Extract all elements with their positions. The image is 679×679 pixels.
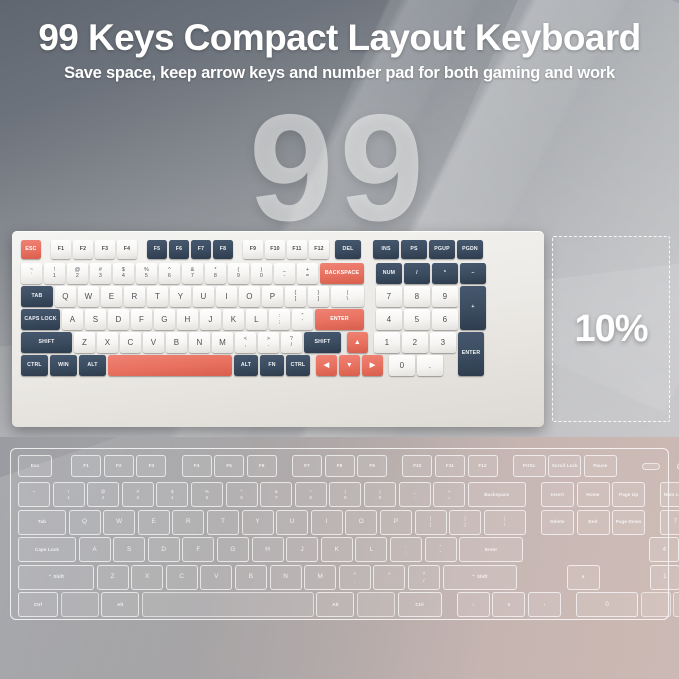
key-legend: D [116,316,122,324]
ghost-key-legend: U [290,518,295,526]
ghost-key-legend: PrtSc [523,463,536,469]
key-j[interactable]: J [200,309,221,330]
ghost-key-legend-dual: >. [388,571,391,583]
ghost-key-g: G [217,537,249,562]
ghost-key-legend: Page Up [619,492,638,498]
key-legend: F12 [314,247,324,252]
key-legend: F2 [80,247,86,252]
key-s[interactable]: S [85,309,106,330]
key-legend: PS [410,247,417,252]
key-[interactable]: >. [258,332,279,353]
key-c[interactable]: C [120,332,141,353]
ghost-key-o: O [345,510,377,535]
key-ins[interactable]: INS [373,240,399,259]
key-k[interactable]: K [223,309,244,330]
ghost-key-legend-dual: )0 [379,489,382,501]
key-legend-dual: >. [267,337,270,349]
ghost-key-legend-dual: !1 [67,489,70,501]
key-legend: ALT [241,363,251,368]
key-5[interactable]: %5 [136,263,157,284]
compact-keyboard: ESCF1F2F3F4F5F6F7F8F9F10F11F12DELINSPSPG… [12,231,544,427]
key-legend-dual: += [306,268,309,280]
ghost-key-u: U [276,510,308,535]
ghost-key-legend: H [265,546,270,554]
ghost-key-legend: R [186,518,191,526]
key-legend: F1 [58,247,64,252]
key-legend: / [416,271,418,276]
ghost-key-gap [169,455,179,477]
ghost-key-home: Home [577,482,610,507]
ghost-key-legend: Insert [551,492,564,498]
ghost-row-g-home-row: Caps LockASDFGHJKL:;"'Enter456 [18,537,661,562]
key-legend: SHIFT [315,340,331,345]
ghost-key-legend-dual: <, [353,571,356,583]
ghost-key-blank: >. [373,565,405,590]
key-p[interactable]: P [262,286,283,307]
key-n[interactable]: N [189,332,210,353]
key-legend: . [429,362,431,370]
key-w[interactable]: W [78,286,99,307]
ghost-key-legend-dual: |\ [504,516,505,528]
ghost-key-gap [55,455,69,477]
key-del[interactable]: DEL [335,240,361,259]
key-legend-dual: {[ [294,291,296,303]
ghost-key-s: S [113,537,145,562]
ghost-key-legend: Esc [31,463,39,469]
key-legend-dual: $4 [122,268,125,280]
ghost-key-legend-dual: $4 [171,489,174,501]
key-o[interactable]: O [239,286,260,307]
key-legend: NUM [383,271,395,276]
key-f2[interactable]: F2 [73,240,93,259]
key-legend: F10 [270,247,280,252]
ghost-key-legend: End [589,519,598,525]
ghost-key-4: 4 [649,537,679,562]
ghost-key-enter: Enter [459,537,523,562]
ghost-key-4: $4 [156,482,188,507]
ghost-key-f: F [182,537,214,562]
ghost-key-m: M [304,565,336,590]
key-r[interactable]: R [124,286,145,307]
ghost-key-f3: F3 [136,455,166,477]
ghost-key-num-lock: Num Lock [660,482,679,507]
key-enter[interactable]: ENTER [458,332,484,376]
key-[interactable]: ◀ [316,355,337,376]
key-f3[interactable]: F3 [95,240,115,259]
ghost-key-legend: Enter [485,547,497,553]
ghost-key-legend: F10 [413,463,421,469]
ghost-key-blank [673,592,679,617]
key-fn[interactable]: FN [260,355,284,376]
ghost-key-caps-lock: Caps Lock [18,537,76,562]
key-legend: 3 [441,339,446,347]
key-2[interactable]: 2 [402,332,428,353]
key-[interactable]: {[ [285,286,306,307]
key-legend: ENTER [330,317,349,322]
ghost-key-h: H [252,537,284,562]
key-legend-dual: :; [279,314,281,326]
ghost-key-legend: F12 [478,463,486,469]
ghost-key-gap [663,455,675,477]
ghost-key-gap [648,510,658,535]
key-tab[interactable]: TAB [21,286,53,307]
key-f10[interactable]: F10 [265,240,285,259]
key-3[interactable]: 3 [430,332,456,353]
ghost-key-blank: ~` [18,482,50,507]
ghost-key-legend-dual: {[ [430,516,432,528]
ghost-key-f6: F6 [247,455,277,477]
ghost-key-legend: F5 [226,463,232,469]
key-legend: V [151,339,157,347]
ghost-key-legend: C [179,573,184,581]
key-7[interactable]: &7 [182,263,203,284]
ghost-key-c: C [166,565,198,590]
key-legend: INS [381,247,390,252]
ghost-key-blank: :; [390,537,422,562]
key-m[interactable]: M [212,332,233,353]
ghost-key-8: *8 [295,482,327,507]
key-num[interactable]: NUM [376,263,402,284]
ghost-key-blank [142,592,314,617]
ghost-key-legend-dual: "' [440,544,442,556]
key-legend-dual: _- [283,268,286,280]
ghost-key-x: X [131,565,163,590]
key-legend: O [246,293,252,301]
key-l[interactable]: L [246,309,267,330]
key-[interactable]: :; [269,309,290,330]
ghost-key-z: Z [97,565,129,590]
ghost-key-legend: Q [82,518,87,526]
ghost-key-legend-dual: ~` [33,489,36,501]
ghost-key-legend-dual: %5 [205,489,209,501]
key-legend-dual: @2 [75,268,81,280]
key-legend-dual: ?/ [290,337,293,349]
key-[interactable]: – [460,263,486,284]
ghost-key-shift: ⌃ Shift [18,565,94,590]
ghost-key-t: T [207,510,239,535]
key-legend: 6 [443,316,448,324]
ghost-key-legend: V [214,573,218,581]
key-legend: ▼ [346,362,353,369]
key-[interactable]: |\ [331,286,364,307]
ghost-key-7: &7 [260,482,292,507]
ghost-key-backspace: Backspace [468,482,526,507]
ghost-key-legend: B [249,573,253,581]
key-legend: M [219,339,226,347]
key-legend-dual: <, [244,337,247,349]
key-pgup[interactable]: PGUP [429,240,455,259]
ghost-key-f7: F7 [292,455,322,477]
ghost-key-legend: 4 [662,546,666,554]
key-6[interactable]: ^6 [159,263,180,284]
key-[interactable]: / [404,263,430,284]
ghost-key-legend: ⌃ Shift [472,574,488,580]
key-7[interactable]: 7 [376,286,402,307]
ghost-key-delete: Delete [541,510,574,535]
ghost-key-3: #3 [122,482,154,507]
ghost-key-blank: "' [425,537,457,562]
key-legend-dual: !1 [53,268,56,280]
key-legend: F8 [220,247,226,252]
key-legend: CTRL [291,363,306,368]
key-legend: 5 [415,316,420,324]
key-legend-dual: (9 [237,268,240,280]
key-f[interactable]: F [131,309,152,330]
full-size-keyboard-outline: EscF1F2F3F4F5F6F7F8F9F10F11F12PrtScScrol… [10,448,669,620]
ghost-key-legend: Ctrl [415,602,423,608]
key-backspace[interactable]: BACKSPACE [320,263,364,284]
key-gap [343,332,345,353]
key-legend: ALT [87,363,97,368]
key-x[interactable]: X [97,332,118,353]
key-[interactable]: }] [308,286,329,307]
ghost-key-legend: O [359,518,364,526]
keyboard-row-home-row: CAPS LOCKASDFGHJKL:;"'ENTER456 [21,309,536,330]
key-y[interactable]: Y [170,286,191,307]
key-esc[interactable]: ESC [21,240,41,259]
key-legend: I [225,293,227,301]
key-0[interactable]: )0 [251,263,272,284]
ghost-key-legend: D [161,546,166,554]
key-u[interactable]: U [193,286,214,307]
key-1[interactable]: !1 [44,263,65,284]
ghost-key-f9: F9 [357,455,387,477]
key-legend-dual: )0 [260,268,263,280]
ghost-key-page-up: Page Up [612,482,645,507]
key-legend: S [93,316,99,324]
ghost-key-ctrl: Ctrl [398,592,442,617]
key-[interactable]: . [417,355,443,376]
ghost-key-f4: F4 [182,455,212,477]
key-gap [366,263,374,284]
ghost-key-legend: Num Lock [664,492,679,498]
key-f6[interactable]: F6 [169,240,189,259]
key-[interactable]: ?/ [281,332,302,353]
ghost-key-gap [619,455,639,477]
key-blank[interactable] [108,355,232,376]
ghost-key-legend: 1 [663,573,667,581]
key-[interactable]: += [297,263,318,284]
key-[interactable]: <, [235,332,256,353]
ghost-key-blank: _- [399,482,431,507]
ghost-key-legend: Scroll Lock [552,463,578,469]
key-a[interactable]: A [62,309,83,330]
ghost-key-j: J [286,537,318,562]
ghost-key-legend: F7 [304,463,310,469]
key-z[interactable]: Z [74,332,95,353]
ghost-key-page-down: Page Down [612,510,645,535]
key-[interactable]: + [460,286,486,330]
ghost-key-a: A [79,537,111,562]
key-legend: 4 [387,316,392,324]
ghost-key-q: Q [69,510,101,535]
key-legend-dual: "' [301,314,303,326]
ghost-key-esc: Esc [18,455,52,477]
key-legend: E [109,293,115,301]
key-legend-dual: ~` [30,268,33,280]
ghost-key-legend: Caps Lock [35,547,59,553]
ghost-key-i: I [311,510,343,535]
key-i[interactable]: I [216,286,237,307]
key-9[interactable]: (9 [228,263,249,284]
ghost-key-w: W [103,510,135,535]
ghost-key-blank: › [528,592,561,617]
key-ctrl[interactable]: CTRL [286,355,310,376]
key-9[interactable]: 9 [432,286,458,307]
key-[interactable]: ~` [21,263,42,284]
ghost-key-legend: Y [255,518,259,526]
key-shift[interactable]: SHIFT [304,332,341,353]
key-f1[interactable]: F1 [51,240,71,259]
ghost-key-legend: F4 [194,463,200,469]
ghost-key-legend: F8 [337,463,343,469]
key-d[interactable]: D [108,309,129,330]
key-6[interactable]: 6 [432,309,458,330]
ghost-key-legend: K [335,546,339,554]
space-saved-badge: 10% [552,236,670,422]
key-enter[interactable]: ENTER [315,309,364,330]
key-f9[interactable]: F9 [243,240,263,259]
ghost-key-blank [61,592,99,617]
key-legend-dual: %5 [144,268,149,280]
ghost-key-legend: A [92,546,96,554]
ghost-key-gap [602,565,647,590]
key-win[interactable]: WIN [50,355,77,376]
key-legend: W [85,293,93,301]
key-f12[interactable]: F12 [309,240,329,259]
ghost-key-scroll-lock: Scroll Lock [548,455,581,477]
ghost-key-blank: ∧ [567,565,600,590]
key-t[interactable]: T [147,286,168,307]
key-pgdn[interactable]: PGDN [457,240,483,259]
key-legend: G [161,316,167,324]
key-legend: F6 [176,247,182,252]
key-q[interactable]: Q [55,286,76,307]
key-8[interactable]: 8 [404,286,430,307]
ghost-key-legend: J [301,546,304,554]
key-gap [139,240,145,259]
key-gap [370,332,372,353]
key-[interactable]: _- [274,263,295,284]
key-[interactable]: ▲ [347,332,368,353]
key-legend: 0 [400,362,405,370]
ghost-key-legend: 7 [673,518,677,526]
ghost-key-legend-dual: *8 [309,489,312,501]
key-f8[interactable]: F8 [213,240,233,259]
ghost-key-legend: ⌃ Shift [48,574,64,580]
ghost-key-legend-dual: (9 [344,489,347,501]
key-legend: L [254,316,259,324]
key-legend: ▶ [370,362,376,369]
key-[interactable]: * [432,263,458,284]
ghost-key-y: Y [242,510,274,535]
ghost-key-ctrl: Ctrl [18,592,58,617]
ghost-key-legend: ‹ [472,602,474,608]
ghost-key-legend: ∨ [507,602,510,608]
ghost-key-gap [500,455,510,477]
key-legend: ENTER [462,351,481,356]
key-legend: 7 [387,293,392,301]
key-legend-dual: ^6 [168,268,171,280]
ghost-key-blank: ∨ [492,592,525,617]
ghost-key-insert: Insert [541,482,574,507]
ghost-key-legend: T [221,518,225,526]
key-e[interactable]: E [101,286,122,307]
key-legend: + [471,305,474,310]
key-alt[interactable]: ALT [234,355,258,376]
key-4[interactable]: 4 [376,309,402,330]
key-h[interactable]: H [177,309,198,330]
ghost-key-gap [648,482,658,507]
ghost-key-legend: Home [586,492,599,498]
key-legend: SHIFT [39,340,55,345]
key-gap [366,309,374,330]
key-[interactable]: "' [292,309,313,330]
page-subtitle: Save space, keep arrow keys and number p… [0,64,679,83]
key-[interactable]: ▶ [362,355,383,376]
key-gap [312,355,314,376]
key-1[interactable]: 1 [374,332,400,353]
ghost-key-f8: F8 [325,455,355,477]
key-2[interactable]: @2 [67,263,88,284]
ghost-key-f1: F1 [71,455,101,477]
ghost-key-legend: I [326,518,328,526]
ghost-key-legend: 0 [605,601,609,609]
ghost-key-legend: ∧ [581,574,584,580]
key-g[interactable]: G [154,309,175,330]
ghost-key-legend: E [152,518,156,526]
ghost-key-blank [641,592,671,617]
key-legend: C [128,339,134,347]
ghost-key-legend-dual: _- [413,489,416,501]
key-alt[interactable]: ALT [79,355,106,376]
key-shift[interactable]: SHIFT [21,332,72,353]
space-saved-value: 10% [574,308,647,351]
key-ctrl[interactable]: CTRL [21,355,48,376]
key-legend: F7 [198,247,204,252]
key-legend: U [201,293,207,301]
ghost-key-gap [528,510,538,535]
ghost-key-alt: Alt [101,592,139,617]
ghost-key-legend: M [317,573,322,581]
ghost-key-5: %5 [191,482,223,507]
key-f5[interactable]: F5 [147,240,167,259]
ghost-key-blank: <, [339,565,371,590]
ghost-keyboard-panel: EscF1F2F3F4F5F6F7F8F9F10F11F12PrtScScrol… [0,437,679,679]
key-f7[interactable]: F7 [191,240,211,259]
key-8[interactable]: *8 [205,263,226,284]
key-[interactable]: ▼ [339,355,360,376]
key-f11[interactable]: F11 [287,240,307,259]
key-b[interactable]: B [166,332,187,353]
key-0[interactable]: 0 [389,355,415,376]
ghost-key-end: End [577,510,610,535]
ghost-key-f5: F5 [214,455,244,477]
key-v[interactable]: V [143,332,164,353]
key-ps[interactable]: PS [401,240,427,259]
key-legend: – [471,271,474,276]
key-caps-lock[interactable]: CAPS LOCK [21,309,60,330]
key-f4[interactable]: F4 [117,240,137,259]
key-4[interactable]: $4 [113,263,134,284]
key-5[interactable]: 5 [404,309,430,330]
key-3[interactable]: #3 [90,263,111,284]
key-legend-dual: *8 [214,268,217,280]
ghost-key-k: K [321,537,353,562]
key-gap [366,286,374,307]
ghost-key-legend: N [283,573,288,581]
ghost-key-legend: G [230,546,235,554]
